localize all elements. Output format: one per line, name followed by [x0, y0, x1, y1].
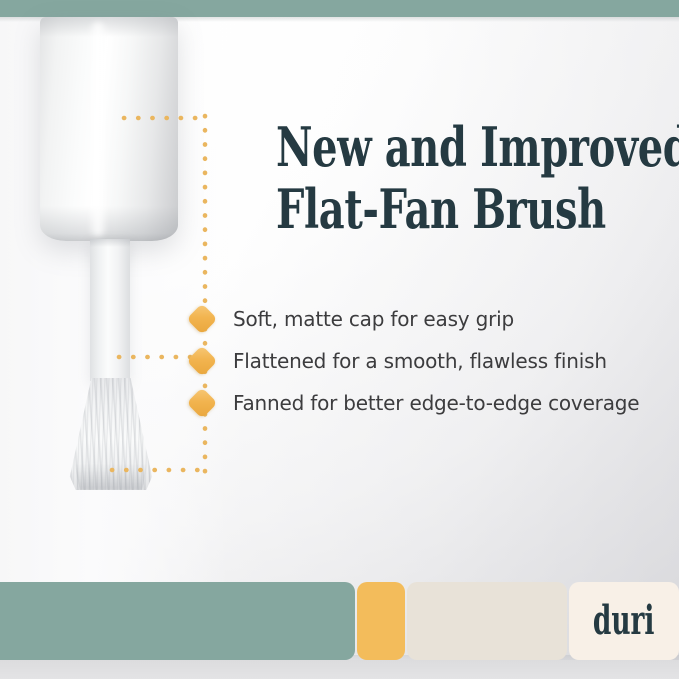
poster-canvas: New and Improved Flat-Fan Brush Soft, ma… — [0, 0, 679, 679]
bar-segment-beige — [407, 582, 568, 660]
cap-bottom-shading — [40, 206, 178, 241]
list-item: Soft, matte cap for easy grip — [191, 298, 661, 340]
diamond-bullet-icon — [186, 303, 217, 334]
brush-stem — [90, 239, 130, 381]
cap-top-shading — [40, 17, 178, 37]
headline: New and Improved Flat-Fan Brush — [276, 116, 666, 240]
diamond-bullet-icon — [186, 387, 217, 418]
feature-text: Fanned for better edge-to-edge coverage — [233, 391, 639, 415]
feature-text: Soft, matte cap for easy grip — [233, 307, 514, 331]
feature-list: Soft, matte cap for easy grip Flattened … — [191, 298, 661, 424]
list-item: Flattened for a smooth, flawless finish — [191, 340, 661, 382]
headline-line-1: New and Improved — [276, 116, 565, 178]
brush-stem-seam — [90, 239, 130, 247]
bar-segment-teal — [0, 582, 355, 660]
bristle-tip-shading — [70, 464, 152, 490]
product-photo — [0, 0, 240, 560]
feature-text: Flattened for a smooth, flawless finish — [233, 349, 607, 373]
bottom-grey-strip — [0, 660, 679, 679]
brand-logo-text: duri — [593, 601, 655, 641]
list-item: Fanned for better edge-to-edge coverage — [191, 382, 661, 424]
brand-logo-tile: duri — [569, 582, 679, 660]
cap-highlight — [88, 22, 108, 236]
diamond-bullet-icon — [186, 345, 217, 376]
headline-line-2: Flat-Fan Brush — [276, 178, 565, 240]
bottom-color-bar: duri — [0, 582, 679, 660]
bar-segment-amber — [357, 582, 405, 660]
brush-bristles — [62, 378, 160, 490]
